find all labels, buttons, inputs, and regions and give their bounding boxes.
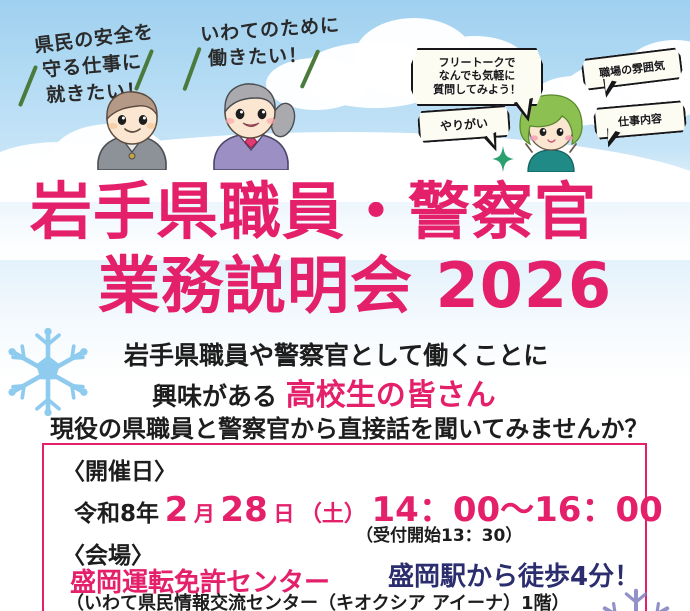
subtitle-line3: 現役の県職員と警察官から直接話を聞いてみませんか？	[50, 409, 649, 444]
subtitle-line1: 岩手県職員や警察官として働くことに	[124, 336, 548, 372]
bubble-rewarding-text: やりがい	[440, 116, 489, 133]
bubble-free-talk: フリートークで なんでも気軽に 質問してみよう！	[411, 48, 543, 106]
student-girl-illustration	[198, 76, 308, 170]
student-boy-illustration	[80, 88, 185, 170]
subtitle-line2-plain: 興味がある	[152, 382, 277, 411]
bubble-free-talk-line2: なんでも気軽に	[419, 69, 535, 82]
date-era: 令和8年	[74, 501, 159, 527]
caption-right-line2: 働きたい！	[208, 40, 309, 70]
date-month: 2	[165, 490, 189, 530]
poster-root: 県民の安全を 守る仕事に 就きたい！ いわてのために 働きたい！	[0, 0, 690, 611]
date-day-unit: 日	[273, 502, 294, 526]
subtitle-line2: 興味がある 高校生の皆さん	[152, 370, 496, 414]
date-day: 28	[220, 490, 267, 530]
subtitle-line2-highlight: 高校生の皆さん	[286, 378, 496, 413]
bubble-job-content-text: 仕事内容	[618, 112, 663, 129]
date-month-unit: 月	[194, 502, 215, 526]
date-label: 〈開催日〉	[62, 452, 177, 486]
page-title-line2: 業務説明会 2026	[98, 254, 612, 318]
bubble-free-talk-line1: フリートークで	[419, 56, 535, 69]
reception-time: （受付開始13：30）	[356, 521, 522, 546]
bubble-workplace-atmosphere-text: 職場の雰囲気	[599, 59, 666, 80]
snowflake-icon-bottom-right	[596, 586, 676, 611]
venue-sub-note: （いわて県民情報交流センター（キオクシア アイーナ）1階）	[66, 589, 570, 611]
bubble-free-talk-line3: 質問してみよう！	[419, 83, 535, 96]
page-title-line1: 岩手県職員・警察官	[30, 180, 597, 244]
